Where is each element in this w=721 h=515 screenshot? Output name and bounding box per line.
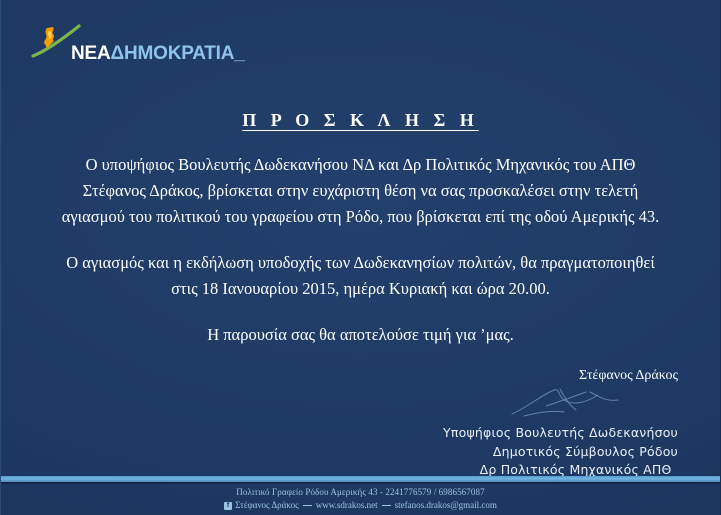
footer-office-contact: Πολιτικό Γραφείο Ρόδου Αμερικής 43 - 224… bbox=[1, 486, 720, 499]
footer-facebook-name[interactable]: Στέφανος Δράκος bbox=[235, 499, 299, 512]
page-title: Π Ρ Ο Σ Κ Λ Η Σ Η bbox=[1, 110, 720, 131]
logo-word-nea: ΝΕΑ bbox=[71, 43, 111, 64]
footer-email[interactable]: stefanos.drakos@gmail.com bbox=[395, 499, 497, 512]
footer-divider-shadow bbox=[1, 482, 720, 484]
footer-website[interactable]: www.sdrakos.net bbox=[316, 499, 378, 512]
facebook-icon[interactable]: f bbox=[224, 502, 232, 510]
logo-word-dimokratia: ΔΗΜΟΚΡΑΤΙΑ bbox=[111, 43, 235, 64]
paragraph-announcement: Ο υποψήφιος Βουλευτής Δωδεκανήσου ΝΔ και… bbox=[61, 152, 660, 230]
paragraph-event-details: Ο αγιασμός και η εκδήλωση υποδοχής των Δ… bbox=[61, 250, 660, 302]
handwritten-signature-icon bbox=[378, 386, 678, 420]
invitation-card: ΝΕΑΔΗΜΟΚΡΑΤΙΑ_ Π Ρ Ο Σ Κ Λ Η Σ Η Ο υποψή… bbox=[0, 0, 721, 515]
footer: Πολιτικό Γραφείο Ρόδου Αμερικής 43 - 224… bbox=[1, 486, 720, 512]
footer-separator-2 bbox=[382, 505, 391, 506]
paragraph-closing: Η παρουσία σας θα αποτελούσε τιμή για ’μ… bbox=[61, 322, 660, 348]
logo-trailing-mark: _ bbox=[234, 43, 244, 64]
credential-line-1: Υποψήφιος Βουλευτής Δωδεκανήσου bbox=[378, 424, 678, 443]
signatory-credentials: Υποψήφιος Βουλευτής Δωδεκανήσου Δημοτικό… bbox=[378, 424, 678, 480]
invitation-body: Ο υποψήφιος Βουλευτής Δωδεκανήσου ΝΔ και… bbox=[61, 152, 660, 368]
footer-separator-1 bbox=[303, 505, 312, 506]
nea-dimokratia-logo: ΝΕΑΔΗΜΟΚΡΑΤΙΑ_ bbox=[29, 22, 219, 70]
credential-line-2: Δημοτικός Σύμβουλος Ρόδου bbox=[378, 443, 678, 462]
signature-block: Στέφανος Δράκος Υποψήφιος Βουλευτής Δωδε… bbox=[378, 368, 678, 480]
logo-wordmark: ΝΕΑΔΗΜΟΚΡΑΤΙΑ_ bbox=[71, 44, 245, 63]
signatory-name: Στέφανος Δράκος bbox=[378, 368, 678, 385]
footer-social-links: f Στέφανος Δράκος www.sdrakos.net stefan… bbox=[1, 499, 720, 512]
